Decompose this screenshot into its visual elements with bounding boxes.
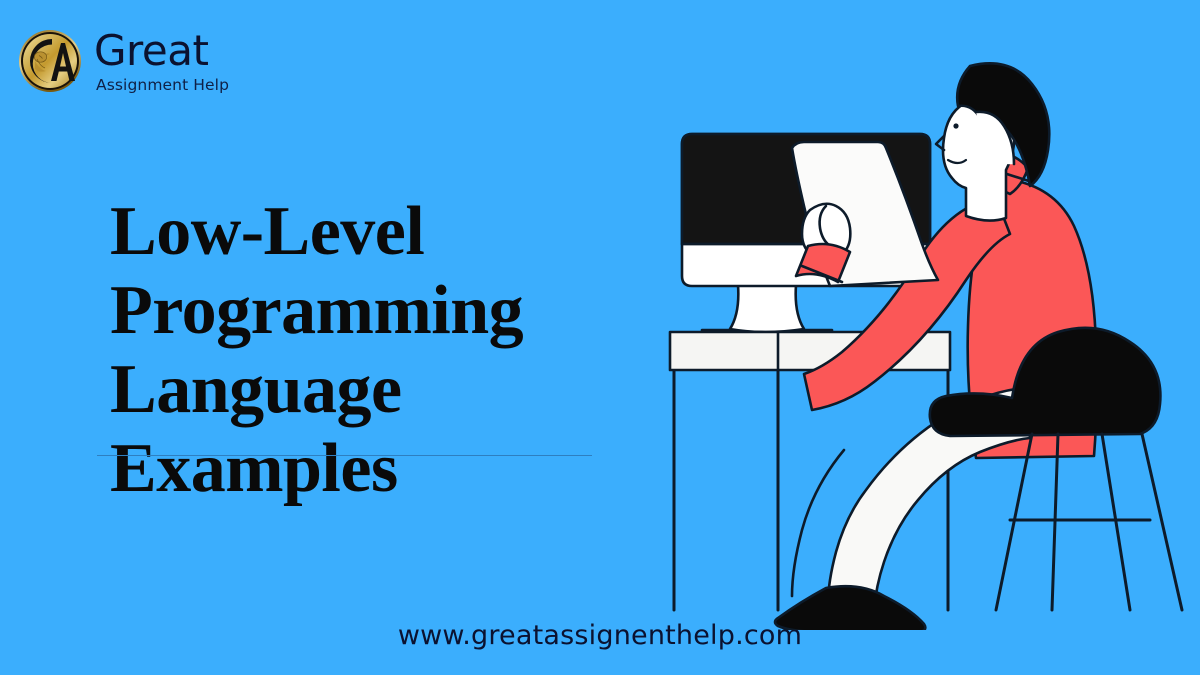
person-at-desk-reading-paper-illustration <box>640 30 1200 630</box>
brand-tagline: Assignment Help <box>96 78 229 94</box>
brand-name: Great <box>94 30 229 72</box>
page-title: Low-Level Programming Language Examples <box>110 192 630 508</box>
headline-divider <box>97 455 592 456</box>
great-assignment-help-coin-logo-icon <box>18 29 82 93</box>
brand-text-block: Great Assignment Help <box>94 28 229 94</box>
poster-canvas: Great Assignment Help Low-Level Programm… <box>0 0 1200 675</box>
brand-logo-lockup[interactable]: Great Assignment Help <box>18 28 229 94</box>
